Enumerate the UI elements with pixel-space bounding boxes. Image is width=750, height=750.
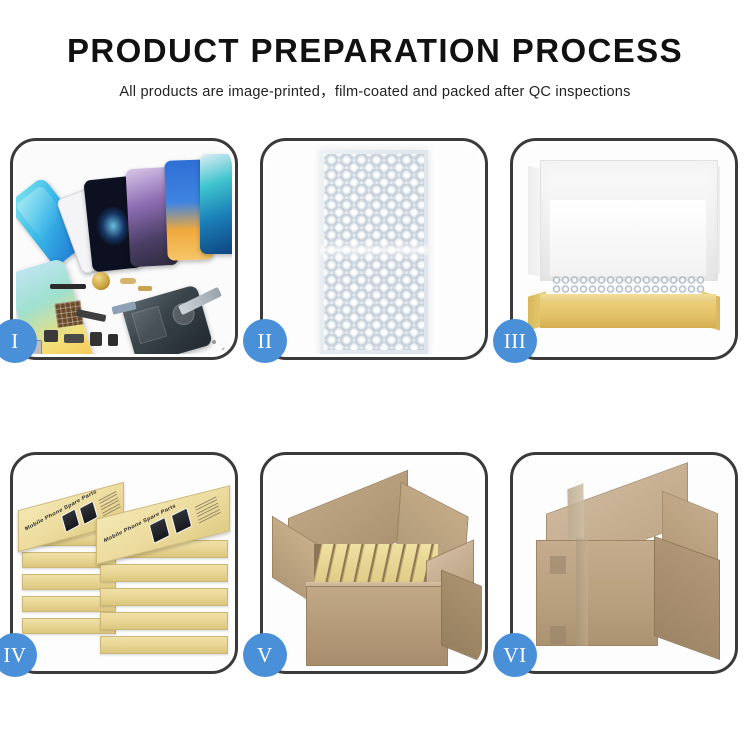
screw-part-a (212, 340, 216, 344)
step-panel-5: V (260, 452, 488, 674)
step-badge-2: II (243, 319, 287, 363)
step-panel-1: I (10, 138, 238, 360)
earpiece-mesh-part (50, 284, 86, 289)
step-badge-5: V (243, 633, 287, 677)
retail-box-spec-lines-front (195, 496, 221, 525)
battery-connector-part (64, 334, 84, 343)
screw-part-b (222, 348, 226, 352)
retail-box-fr-4 (100, 612, 228, 630)
flex-cable-part-a (120, 278, 136, 284)
step-1-image (16, 144, 232, 354)
step-panel-3: III (510, 138, 738, 360)
step-panel-4: Mobile Phone Spare Parts (10, 452, 238, 674)
bubble-wrap-edge-left (311, 150, 320, 354)
process-step-grid: I II (10, 138, 740, 674)
step-badge-1: I (0, 319, 37, 363)
retail-box-fr-2 (100, 564, 228, 582)
vibration-motor-part (92, 272, 110, 290)
retail-box-phone-graphic-front-b (171, 507, 193, 534)
phone-screen-cyan (200, 154, 232, 254)
carton-body-front (306, 586, 448, 666)
retail-box-fr-3 (100, 588, 228, 606)
step-panel-2: II (260, 138, 488, 360)
step-4-image: Mobile Phone Spare Parts (16, 458, 232, 668)
foam-insert (550, 200, 706, 276)
step-3-image (516, 144, 732, 354)
retail-box-stack: Mobile Phone Spare Parts (16, 458, 232, 668)
step-2-image (266, 144, 482, 354)
carton-seam (576, 538, 588, 646)
step-panel-6: VI (510, 452, 738, 674)
header: PRODUCT PREPARATION PROCESS All products… (0, 0, 750, 101)
page-title: PRODUCT PREPARATION PROCESS (0, 34, 750, 69)
carton-tab-upper (550, 556, 566, 574)
sim-tray-part (108, 334, 118, 346)
step-badge-4: IV (0, 633, 37, 677)
step-badge-3: III (493, 319, 537, 363)
speaker-part (90, 332, 102, 346)
bubble-wrap-sheen (320, 242, 428, 258)
flex-cable-part-b (138, 286, 152, 291)
infographic-page: PRODUCT PREPARATION PROCESS All products… (0, 0, 750, 750)
carton-tab-lower (550, 626, 566, 644)
bubble-wrap-sheet (320, 150, 428, 354)
page-subtitle: All products are image-printed，film-coat… (0, 80, 750, 101)
step-5-image (266, 458, 482, 668)
bubble-wrap-edge-right (428, 150, 437, 354)
camera-module-part (44, 330, 58, 342)
step-badge-6: VI (493, 633, 537, 677)
inner-box-front (540, 302, 716, 328)
retail-box-fr-5 (100, 636, 228, 654)
step-6-image (516, 458, 732, 668)
